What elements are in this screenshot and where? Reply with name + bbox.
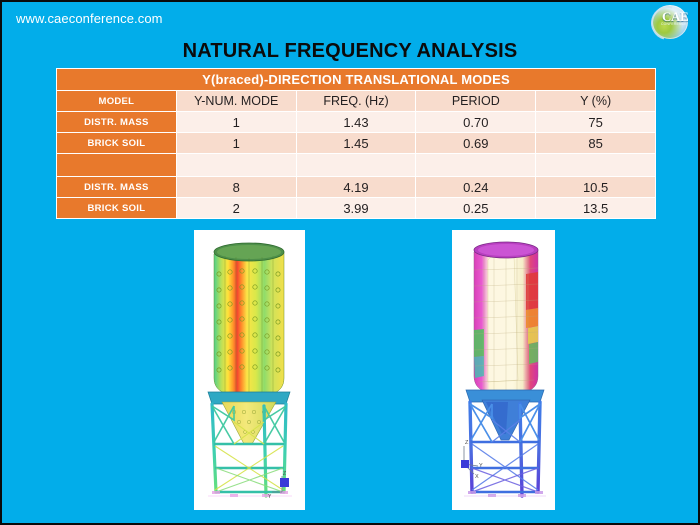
axis-label-x: X [475, 474, 479, 480]
figure-mode-shape-brick-soil: Z Y X [452, 230, 555, 510]
column-header-mode: Y-NUM. MODE [177, 91, 296, 111]
column-header-ypct: Y (%) [536, 91, 655, 111]
table-row: BRICK SOIL 2 3.99 0.25 13.5 [57, 198, 655, 218]
cae-logo: CAE CONFERENCE [650, 3, 694, 41]
table-spacer-row [57, 154, 655, 176]
cell-freq: 3.99 [297, 198, 416, 218]
mode-shape-svg-right: Z Y X [452, 230, 555, 510]
page-title: NATURAL FREQUENCY ANALYSIS [2, 40, 698, 63]
cell-ypct: 85 [536, 133, 655, 153]
cell-freq: 4.19 [297, 177, 416, 197]
axis-label-y: Y [268, 494, 272, 500]
row-label: DISTR. MASS [57, 112, 176, 132]
cell-period: 0.24 [416, 177, 535, 197]
cell-ypct [536, 154, 655, 176]
cell-mode: 1 [177, 133, 296, 153]
axis-label-z: Z [465, 440, 469, 446]
cell-period [416, 154, 535, 176]
row-label: BRICK SOIL [57, 133, 176, 153]
axis-label-z: Z [283, 471, 286, 477]
axis-label-y: Y [479, 463, 483, 469]
column-header-model: MODEL [57, 91, 176, 111]
table-row: DISTR. MASS 1 1.43 0.70 75 [57, 112, 655, 132]
cell-period: 0.70 [416, 112, 535, 132]
cell-period: 0.25 [416, 198, 535, 218]
row-label: BRICK SOIL [57, 198, 176, 218]
axis-origin-marker [280, 478, 289, 487]
table-banner: Y(braced)-DIRECTION TRANSLATIONAL MODES [57, 69, 655, 90]
cell-ypct: 10.5 [536, 177, 655, 197]
cell-freq [297, 154, 416, 176]
figure-mode-shape-distributed-mass: Z Y [194, 230, 305, 510]
cell-freq: 1.45 [297, 133, 416, 153]
cell-mode [177, 154, 296, 176]
cell-period: 0.69 [416, 133, 535, 153]
table-header-row: MODEL Y-NUM. MODE FREQ. (Hz) PERIOD Y (%… [57, 91, 655, 111]
slide-canvas: www.caeconference.com CAE CONFERENCE NAT… [2, 2, 698, 523]
row-label: DISTR. MASS [57, 177, 176, 197]
cell-mode: 8 [177, 177, 296, 197]
cell-ypct: 75 [536, 112, 655, 132]
column-header-freq: FREQ. (Hz) [297, 91, 416, 111]
frequency-table: Y(braced)-DIRECTION TRANSLATIONAL MODES … [56, 68, 656, 219]
cell-freq: 1.43 [297, 112, 416, 132]
cell-mode: 1 [177, 112, 296, 132]
table-row: BRICK SOIL 1 1.45 0.69 85 [57, 133, 655, 153]
row-label [57, 154, 176, 176]
cell-ypct: 13.5 [536, 198, 655, 218]
cell-mode: 2 [177, 198, 296, 218]
column-header-period: PERIOD [416, 91, 535, 111]
logo-subtitle: CONFERENCE [661, 22, 687, 26]
site-url-text: www.caeconference.com [16, 11, 163, 26]
table-banner-row: Y(braced)-DIRECTION TRANSLATIONAL MODES [57, 69, 655, 90]
table-row: DISTR. MASS 8 4.19 0.24 10.5 [57, 177, 655, 197]
axis-origin-marker [461, 460, 469, 468]
mode-shape-svg-left: Z Y [194, 230, 305, 510]
